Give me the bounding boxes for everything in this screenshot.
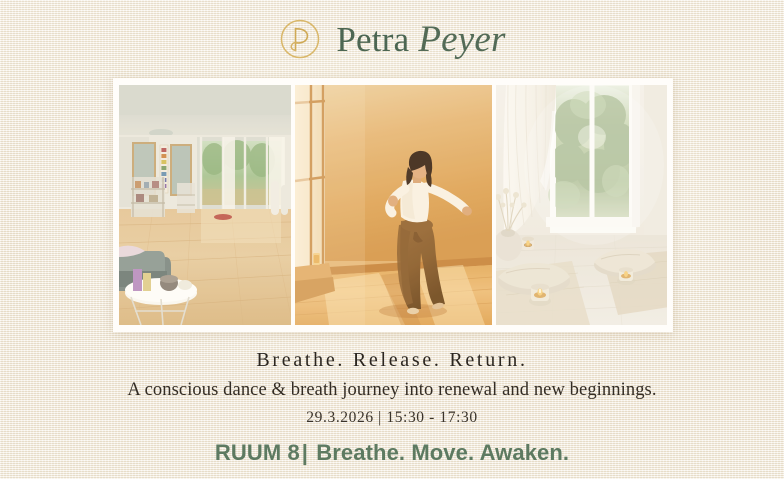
brand-name-first: Petra: [336, 20, 409, 60]
photo-meditation-corner: [496, 85, 667, 325]
venue-name: RUUM 8: [215, 440, 300, 465]
brand-name-second: Peyer: [418, 18, 505, 61]
subheadline: A conscious dance & breath journey into …: [0, 379, 784, 402]
photo-yoga-studio-interior: [119, 85, 291, 325]
photo-collage: [113, 78, 673, 332]
brand-header: Petra Peyer: [0, 14, 784, 64]
event-datetime: 29.3.2026 | 15:30 - 17:30: [0, 408, 784, 427]
brand-wordmark: Petra Peyer: [336, 18, 505, 61]
circle-p-monogram-icon: [278, 17, 322, 61]
venue-separator: |: [300, 440, 310, 465]
headline: Breathe. Release. Return.: [0, 348, 784, 373]
venue-line: RUUM 8| Breathe. Move. Awaken.: [0, 439, 784, 467]
event-poster: Petra Peyer: [0, 0, 784, 479]
photo-woman-dancing: [295, 85, 492, 325]
venue-tagline: Breathe. Move. Awaken.: [316, 440, 569, 465]
copy-block: Breathe. Release. Return. A conscious da…: [0, 348, 784, 466]
